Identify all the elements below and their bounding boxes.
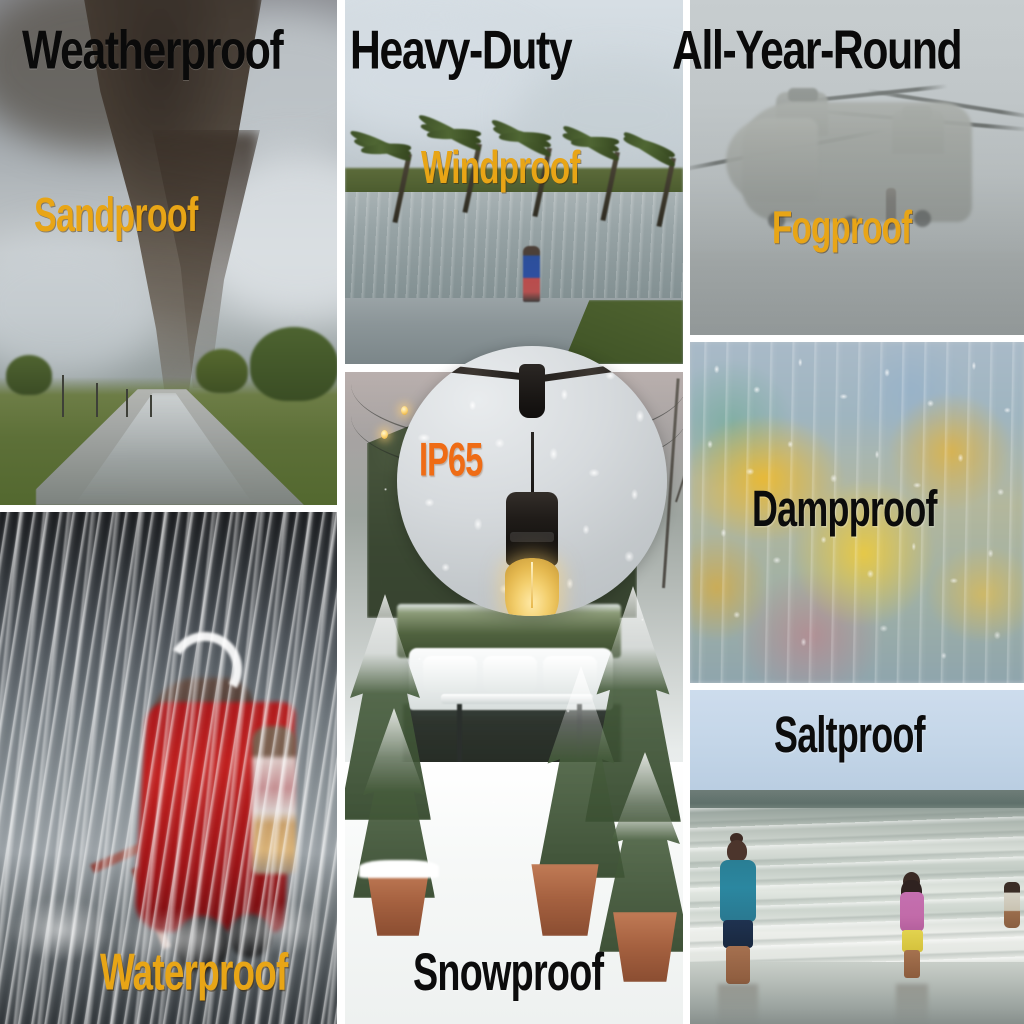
tree-clump [196, 349, 248, 393]
utility-pole [62, 375, 64, 417]
bracket-arm-left [419, 362, 528, 380]
panel-fogproof: Fogproof [690, 0, 1024, 335]
legs [726, 946, 750, 984]
girl-on-beach [896, 872, 928, 976]
wet-sand-reflection [718, 984, 758, 1024]
panel-waterproof: Waterproof [0, 512, 337, 1024]
palm-tree [627, 132, 683, 172]
fog-veil [690, 0, 1024, 335]
label-fogproof: Fogproof [772, 200, 911, 255]
denim-shorts [723, 920, 753, 948]
label-sandproof: Sandproof [34, 188, 198, 243]
weatherproof-feature-collage: Sandproof Waterproof [0, 0, 1024, 1024]
utility-pole [150, 395, 152, 417]
bulb-socket [506, 492, 558, 566]
teal-shirt [720, 860, 756, 922]
label-saltproof: Saltproof [774, 708, 925, 765]
label-dampproof: Dampproof [752, 482, 937, 539]
yellow-shorts [902, 930, 923, 952]
ip65-rating-text: IP65 [419, 434, 482, 488]
pink-top [900, 892, 924, 932]
utility-pole [126, 389, 128, 417]
light-cord [531, 432, 534, 498]
panel-saltproof: Saltproof [690, 690, 1024, 1024]
label-waterproof: Waterproof [100, 944, 288, 1003]
label-windproof: Windproof [421, 140, 580, 195]
panel-sandproof: Sandproof [0, 0, 337, 505]
woman-on-beach [718, 840, 758, 980]
panel-dampproof: Dampproof [690, 342, 1024, 683]
tree-clump [6, 355, 52, 395]
legs [904, 950, 920, 978]
bracket-body [519, 364, 545, 418]
ip65-rating-badge: IP65 [397, 346, 667, 616]
distant-person [1004, 882, 1020, 928]
tree-clump [250, 327, 337, 401]
label-snowproof: Snowproof [413, 942, 603, 1003]
wet-sand-reflection [896, 984, 928, 1024]
hanging-bracket [419, 362, 646, 404]
bulb-filament [531, 562, 533, 608]
bracket-arm-right [537, 360, 646, 382]
utility-pole [96, 383, 98, 417]
panel-windproof: Windproof [345, 0, 683, 364]
head [727, 840, 747, 862]
person-walking-in-wind [523, 246, 540, 302]
